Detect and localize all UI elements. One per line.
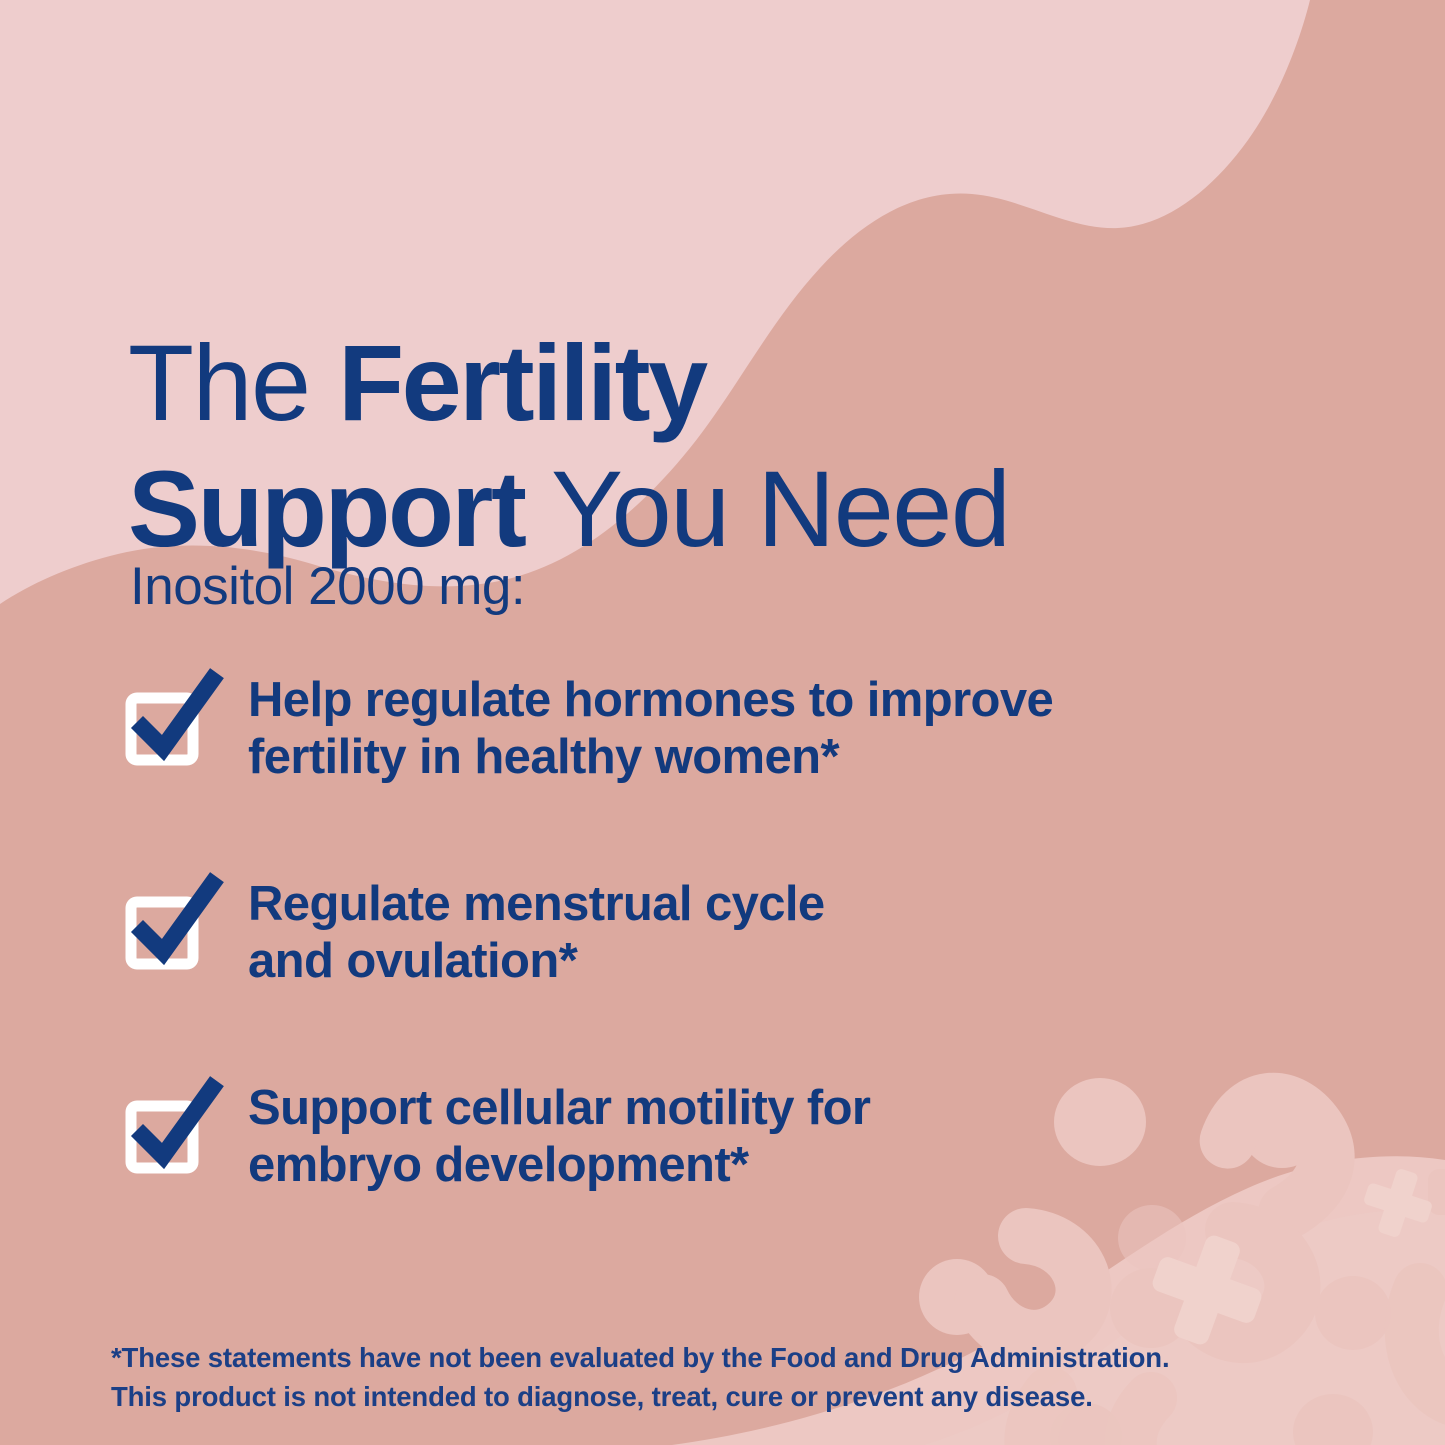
poster-content: The Fertility Support You Need Inositol … <box>0 0 1445 1445</box>
fertility-support-poster: The Fertility Support You Need Inositol … <box>0 0 1445 1445</box>
headline-word-support: Support <box>128 448 524 569</box>
headline-line-2: Support You Need <box>128 446 1328 571</box>
list-item-label: Help regulate hormones to improve fertil… <box>248 660 1306 787</box>
subtitle-ingredient-dose: Inositol 2000 mg: <box>130 556 525 617</box>
headline-words-you-need: You Need <box>524 448 1009 569</box>
headline-word-fertility: Fertility <box>338 322 706 443</box>
headline-line-1: The Fertility <box>128 320 1328 445</box>
fda-disclaimer-footnote: *These statements have not been evaluate… <box>111 1338 1169 1416</box>
list-item-label: Support cellular motility for embryo dev… <box>248 1068 1306 1195</box>
page-title: The Fertility Support You Need <box>128 320 1328 571</box>
list-item: Support cellular motility for embryo dev… <box>126 1068 1306 1228</box>
checkbox-checked-icon <box>126 668 218 760</box>
list-item: Help regulate hormones to improve fertil… <box>126 660 1306 820</box>
list-item: Regulate menstrual cycle and ovulation* <box>126 864 1306 1024</box>
headline-word-the: The <box>128 322 338 443</box>
checkbox-checked-icon <box>126 1076 218 1168</box>
benefits-list: Help regulate hormones to improve fertil… <box>126 660 1306 1228</box>
checkbox-checked-icon <box>126 872 218 964</box>
list-item-label: Regulate menstrual cycle and ovulation* <box>248 864 1306 991</box>
